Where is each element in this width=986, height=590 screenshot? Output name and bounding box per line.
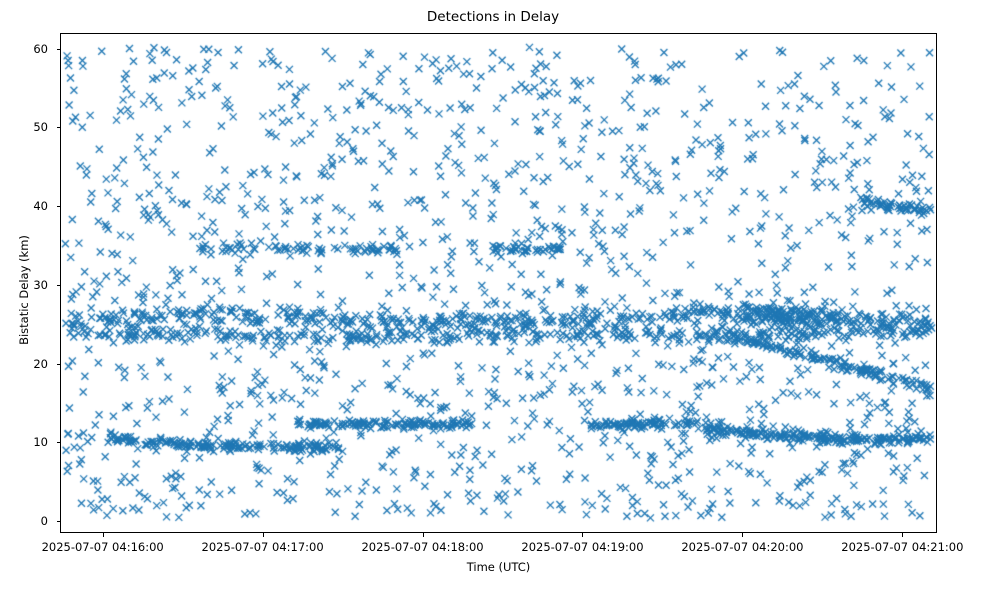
x-tick-mark: [423, 533, 424, 537]
y-tick-label: 50: [0, 120, 48, 134]
y-tick-label: 0: [0, 514, 48, 528]
axes-frame: [60, 33, 937, 533]
y-tick-mark: [57, 521, 61, 522]
x-tick-label: 2025-07-07 04:21:00: [841, 540, 963, 554]
y-tick-mark: [57, 285, 61, 286]
y-tick-mark: [57, 442, 61, 443]
x-tick-label: 2025-07-07 04:19:00: [521, 540, 643, 554]
matplotlib-figure: Detections in Delay 2025-07-07 04:16:002…: [0, 0, 986, 590]
y-tick-label: 10: [0, 435, 48, 449]
page-title: Detections in Delay: [0, 8, 986, 26]
y-tick-mark: [57, 206, 61, 207]
x-tick-mark: [902, 533, 903, 537]
x-tick-mark: [582, 533, 583, 537]
x-tick-mark: [103, 533, 104, 537]
y-tick-mark: [57, 49, 61, 50]
y-axis-label: Bistatic Delay (km): [17, 190, 31, 390]
x-tick-label: 2025-07-07 04:20:00: [681, 540, 803, 554]
y-tick-mark: [57, 127, 61, 128]
y-tick-label: 60: [0, 42, 48, 56]
x-tick-mark: [742, 533, 743, 537]
x-tick-label: 2025-07-07 04:17:00: [202, 540, 324, 554]
x-tick-mark: [263, 533, 264, 537]
x-tick-label: 2025-07-07 04:16:00: [42, 540, 164, 554]
x-axis-label: Time (UTC): [60, 560, 937, 574]
x-tick-label: 2025-07-07 04:18:00: [361, 540, 483, 554]
y-tick-mark: [57, 364, 61, 365]
